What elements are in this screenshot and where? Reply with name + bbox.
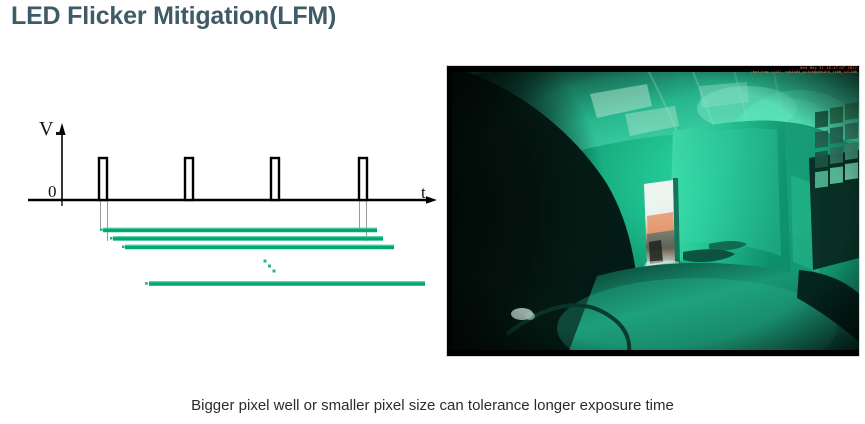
caption-text: Bigger pixel well or smaller pixel size …: [0, 397, 865, 414]
page-title: LED Flicker Mitigation(LFM): [11, 2, 336, 31]
x-axis: [28, 196, 437, 204]
led-pulse-1: [99, 158, 107, 200]
y-axis-label: V: [39, 118, 53, 141]
exposure-windows: [100, 228, 425, 284]
led-pulse-4: [359, 158, 367, 200]
x-axis-label: t: [421, 183, 426, 203]
photo-content: [447, 66, 859, 356]
exposure-line-1: [100, 228, 377, 231]
led-pulse-train: [99, 158, 367, 200]
led-pulse-2: [185, 158, 193, 200]
led-pulse-3: [271, 158, 279, 200]
exposure-line-2: [110, 237, 383, 240]
y-axis-label-subscript: [56, 132, 61, 135]
exposure-line-n: [145, 282, 425, 285]
exposure-line-3: [122, 245, 394, 248]
waveform-diagram: V 0 t: [0, 60, 445, 370]
ellipsis-dots: [264, 260, 276, 273]
origin-label: 0: [48, 182, 57, 202]
sample-photo: Wed May 31 18:47:07 2017 /mnt/tmp_r/cll_…: [447, 66, 859, 356]
